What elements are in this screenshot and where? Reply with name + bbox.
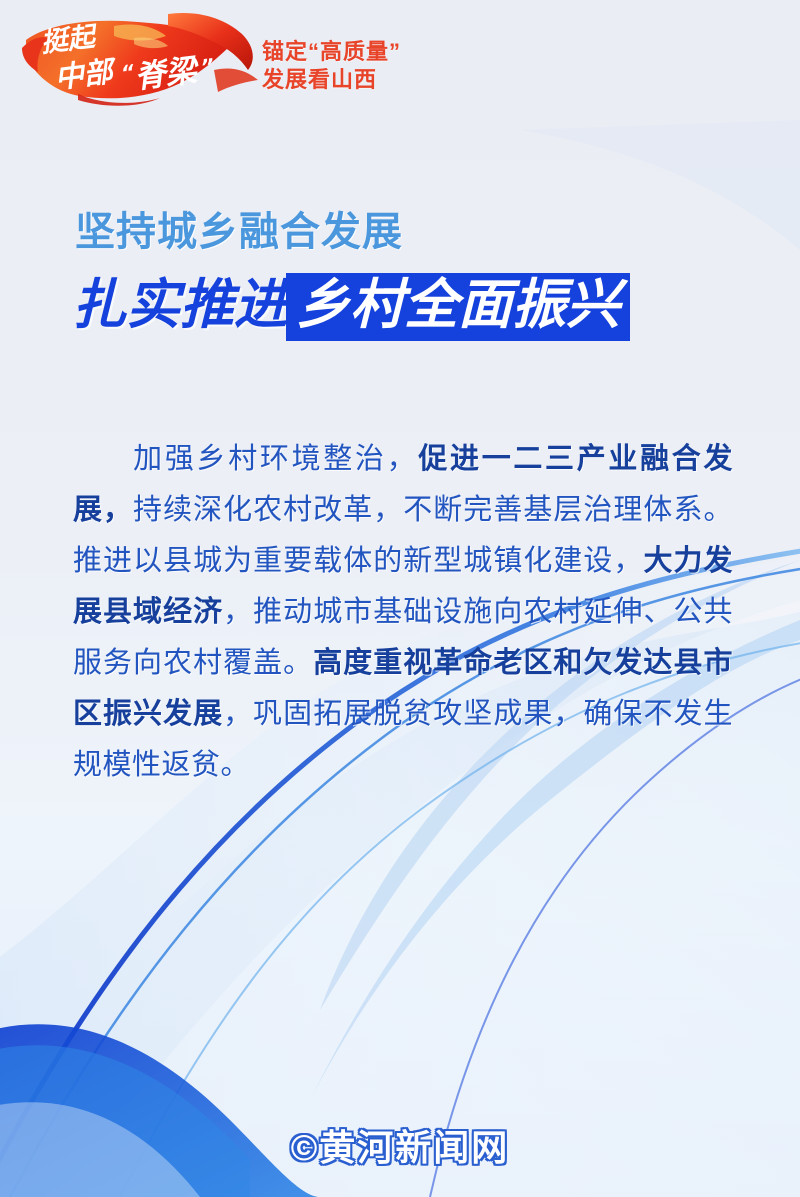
campaign-slogan: 锚定“高质量” 发展看山西 bbox=[262, 38, 401, 94]
headline-secondary: 扎实推进乡村全面振兴 bbox=[72, 272, 800, 338]
headline-primary: 坚持城乡融合发展 bbox=[75, 206, 800, 258]
watermark: ©黄河新闻网 bbox=[0, 1119, 800, 1171]
body-paragraph: 加强乡村环境整治，促进一二三产业融合发展，持续深化农村改革，不断完善基层治理体系… bbox=[73, 434, 733, 791]
headline-secondary-boxed: 乡村全面振兴 bbox=[286, 273, 630, 341]
campaign-slogan-line1: 锚定“高质量” bbox=[262, 39, 401, 64]
headline-secondary-plain: 扎实推进 bbox=[72, 275, 288, 335]
campaign-slogan-line2: 发展看山西 bbox=[262, 66, 401, 94]
headline-block: 坚持城乡融合发展 扎实推进乡村全面振兴 bbox=[0, 206, 800, 338]
brush-stroke-logo-icon: 挺起 中部 “ 脊梁 ” bbox=[18, 8, 268, 113]
poster-root: 挺起 中部 “ 脊梁 ” 锚定“高质量” 发展看山西 坚持城乡融合发展 扎实推进… bbox=[0, 0, 800, 1197]
body-segment-2: 持续深化农村改革，不断完善基层治理体系。推进以县城为重要载体的新型城镇化建设， bbox=[73, 494, 733, 577]
body-segment-0: 加强乡村环境整治， bbox=[131, 443, 418, 475]
svg-text:脊梁: 脊梁 bbox=[133, 52, 202, 96]
header: 挺起 中部 “ 脊梁 ” 锚定“高质量” 发展看山西 bbox=[0, 0, 800, 125]
